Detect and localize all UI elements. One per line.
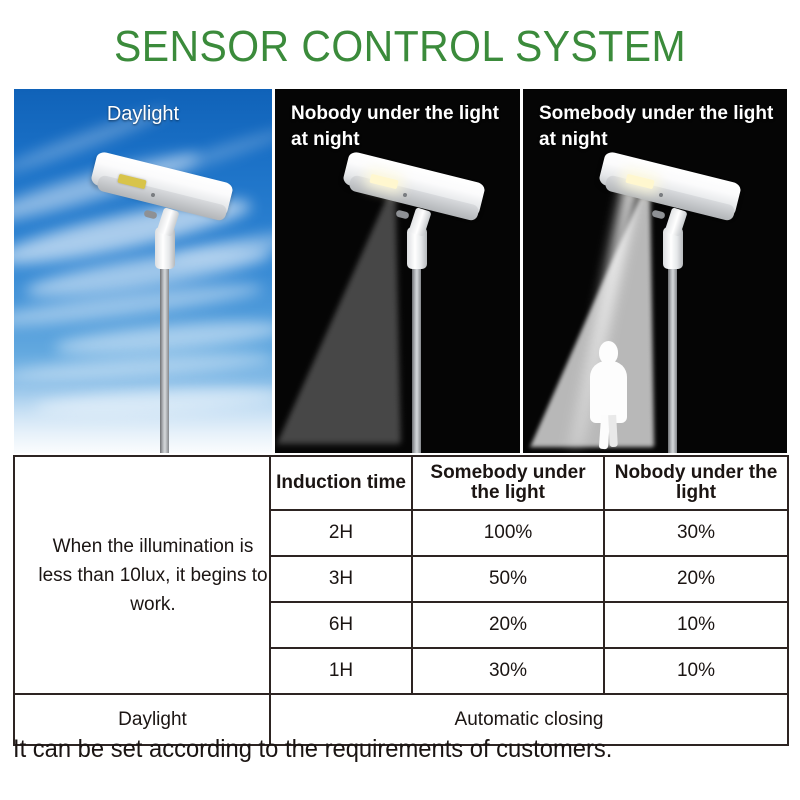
cell-somebody: 30%: [412, 648, 604, 694]
cell-induction-time: 2H: [270, 510, 412, 556]
cell-somebody: 50%: [412, 556, 604, 602]
panel-label-daylight: Daylight: [14, 101, 272, 127]
spec-table-container: When the illumination is less than 10lux…: [13, 455, 787, 746]
sensor-spec-table: When the illumination is less than 10lux…: [13, 455, 789, 746]
cell-induction-time: 3H: [270, 556, 412, 602]
panel-label-nobody: Nobody under the light at night: [291, 101, 508, 153]
header-nobody-under-light: Nobody under the light: [604, 456, 788, 510]
panel-label-somebody: Somebody under the light at night: [539, 101, 775, 153]
panel-nobody-at-night: Nobody under the light at night: [275, 89, 520, 453]
cell-nobody: 30%: [604, 510, 788, 556]
cell-induction-time: 6H: [270, 602, 412, 648]
panel-somebody-at-night: Somebody under the light at night: [523, 89, 787, 453]
footer-note: It can be set according to the requireme…: [13, 732, 754, 766]
cell-somebody: 100%: [412, 510, 604, 556]
cell-nobody: 10%: [604, 648, 788, 694]
cell-induction-time: 1H: [270, 648, 412, 694]
cell-nobody: 20%: [604, 556, 788, 602]
page-title: SENSOR CONTROL SYSTEM: [28, 0, 772, 74]
header-somebody-under-light: Somebody under the light: [412, 456, 604, 510]
panel-daylight: Daylight: [14, 89, 272, 453]
table-row-header: When the illumination is less than 10lux…: [14, 456, 788, 510]
horizon-haze: [14, 383, 272, 453]
cell-nobody: 10%: [604, 602, 788, 648]
illustration-panels: Daylight Nobody under the light at night: [14, 89, 787, 453]
header-induction-time: Induction time: [270, 456, 412, 510]
person-silhouette-icon: [585, 341, 631, 447]
cell-somebody: 20%: [412, 602, 604, 648]
illumination-note: When the illumination is less than 10lux…: [14, 456, 270, 694]
